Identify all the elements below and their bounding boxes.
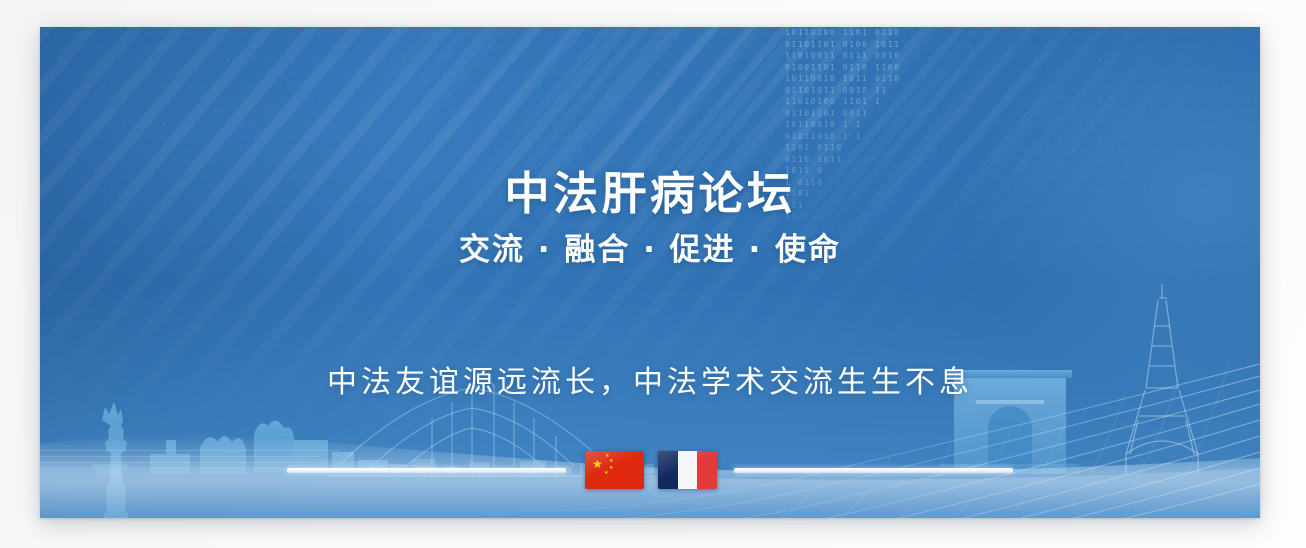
- china-flag-small-star-2: ★: [609, 459, 613, 464]
- france-flag-blue-band: [658, 451, 678, 489]
- france-flag-white-band: [678, 451, 698, 489]
- tagline: 中法友谊源远流长，中法学术交流生生不息: [40, 357, 1260, 401]
- subtitle: 交流 · 融合 · 促进 · 使命: [40, 224, 1260, 269]
- china-flag-icon: ★ ★ ★ ★ ★: [585, 451, 644, 489]
- france-flag-icon: [658, 451, 717, 489]
- decorative-rule-right: [734, 468, 1013, 473]
- china-flag-small-star-3: ★: [609, 466, 613, 471]
- page-title: 中法肝病论坛: [40, 157, 1260, 222]
- china-flag-small-star-4: ★: [604, 471, 608, 476]
- flag-strip: ★ ★ ★ ★ ★: [40, 450, 1260, 490]
- france-flag-red-band: [697, 451, 717, 489]
- decorative-rule-left: [287, 468, 566, 473]
- forum-banner: 10110100 1101 0110 01101101 0100 1011 11…: [40, 27, 1260, 518]
- china-flag-big-star: ★: [592, 458, 603, 470]
